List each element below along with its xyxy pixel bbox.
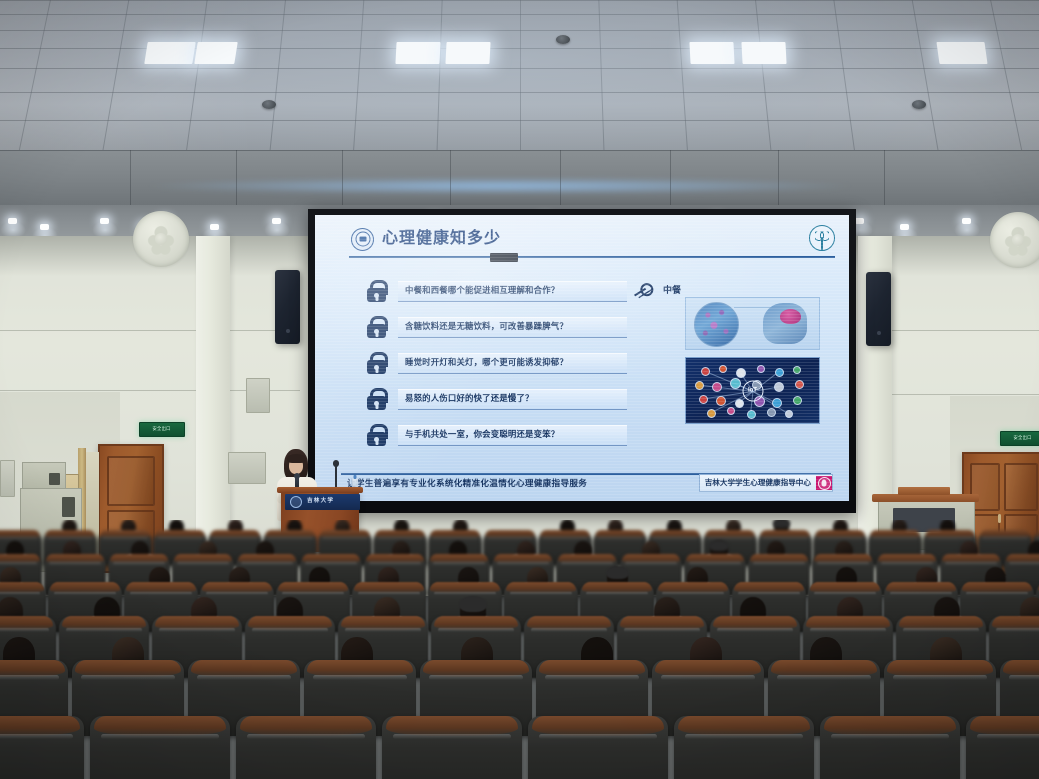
footer-badge: 吉林大学学生心理健康指导中心 [699,474,833,492]
ceiling-panel-light [445,42,490,64]
audience-cap [773,520,790,528]
footer-badge-logo-icon [816,476,832,490]
footer-badge-text: 吉林大学学生心理健康指导中心 [700,479,816,487]
fire-alarm-panel [0,460,15,497]
auditorium-scene: 安全出口 安全出口 心理健康知多少 [0,0,1039,779]
question-bar: 中餐和西餐哪个能促进相互理解和合作？ [398,281,627,302]
audience-seat [0,716,84,779]
question-row: 中餐和西餐哪个能促进相互理解和合作？ [367,273,627,309]
wall-control-box [228,452,266,484]
slide-title-row: 心理健康知多少 [351,224,829,254]
door-panel [1004,463,1038,511]
cabinet-vent [62,497,75,517]
audience-cap [709,540,729,551]
smoke-detector-icon [262,100,276,109]
brain-neuron-image [685,297,820,350]
heart-logo-icon [809,225,835,251]
audience-seat [236,716,376,779]
lock-icon [367,424,386,446]
iot-hub-icon: IoT [742,380,763,401]
question-row: 含糖饮料还是无糖饮料，可改善暴躁脾气？ [367,309,627,345]
wall-control-box [246,378,270,413]
ceiling-panel-light [936,42,987,64]
lock-icon [367,388,386,410]
audience-seat [820,716,960,779]
cabinet-vent [49,473,60,485]
podium-seal-icon [290,496,302,508]
answer-text: 中餐 [663,286,681,295]
university-seal-icon [351,228,374,251]
question-text: 易怒的人伤口好的快了还是慢了？ [405,394,534,402]
audience-seat [382,716,522,779]
exit-sign-right-label: 安全出口 [1014,436,1032,440]
audience-seat [674,716,814,779]
podium-nameplate: 吉林大学 [285,494,360,510]
lock-icon [367,316,386,338]
wall-medallion-icon [990,212,1039,268]
presenter-fringe [287,454,306,463]
wall-medallion-icon [133,211,189,267]
exit-sign-right: 安全出口 [1000,431,1039,446]
podium-top-surface [277,487,363,493]
ceiling-panel-light [689,42,734,64]
projection-screen[interactable]: 心理健康知多少 中餐和西餐哪个能促进相互理解和合作？ 含糖饮料还是无糖饮料，可改… [315,215,849,501]
ceiling-panel-light [741,42,786,64]
question-text: 与手机共处一室，你会变聪明还是变笨？ [405,430,559,438]
footer-slogan: 让学生普遍享有专业化系统化精准化温情化心理健康指导服务 [347,479,587,488]
iot-hub-label: IoT [748,388,757,394]
key-icon [630,278,656,303]
ceiling-panel-light [144,42,195,64]
exit-sign-left: 安全出口 [139,422,185,437]
question-text: 含糖饮料还是无糖饮料，可改善暴躁脾气？ [405,322,568,330]
soffit-cove-light [150,178,850,194]
audience-seat [966,716,1039,779]
side-desk-riser [898,487,950,495]
podium-university-name: 吉林大学 [307,499,334,505]
neuron-closeup [694,302,739,347]
question-bar: 易怒的人伤口好的快了还是慢了？ [398,389,627,410]
ceiling-panel-light [194,42,237,64]
door-panel [107,456,155,506]
title-tab-marker [490,253,518,262]
question-bar: 睡觉时开灯和关灯，哪个更可能诱发抑郁？ [398,353,627,374]
wall-speaker-left [275,270,300,344]
question-row: 睡觉时开灯和关灯，哪个更可能诱发抑郁？ [367,345,627,381]
question-bar: 含糖饮料还是无糖饮料，可改善暴躁脾气？ [398,317,627,338]
question-text: 中餐和西餐哪个能促进相互理解和合作？ [405,286,559,294]
brain-shape [780,309,801,324]
audience-seat [528,716,668,779]
question-text: 睡觉时开灯和关灯，哪个更可能诱发抑郁？ [405,358,568,366]
question-list: 中餐和西餐哪个能促进相互理解和合作？ 含糖饮料还是无糖饮料，可改善暴躁脾气？ 睡… [367,273,627,453]
question-row: 易怒的人伤口好的快了还是慢了？ [367,381,627,417]
smoke-detector-icon [912,100,926,109]
lock-icon [367,280,386,302]
audience-cap [606,566,629,579]
iot-network-image: IoT [685,357,820,424]
answer-callout: 中餐 [633,279,681,301]
audience-seat [90,716,230,779]
audience-cap [459,596,487,612]
audience-seating [0,520,1039,779]
side-desk-top [872,494,979,502]
question-bar: 与手机共处一室，你会变聪明还是变笨？ [398,425,627,446]
lock-icon [367,352,386,374]
smoke-detector-icon [556,35,570,44]
wall-seam [0,330,300,331]
exit-sign-left-label: 安全出口 [153,427,171,431]
ceiling-panel-light [395,42,440,64]
question-row: 与手机共处一室，你会变聪明还是变笨？ [367,417,627,453]
title-divider [349,256,835,258]
wall-speaker-right [866,272,891,346]
wall-pillar-left [196,236,230,566]
slide-title: 心理健康知多少 [382,231,501,247]
